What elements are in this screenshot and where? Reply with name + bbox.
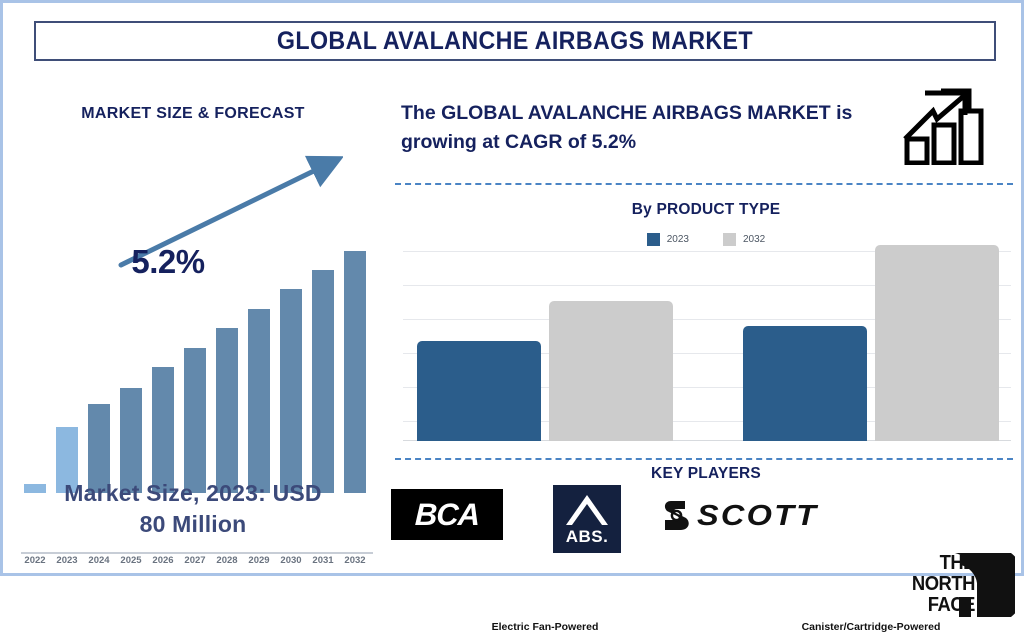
year-label-2030: 2030	[277, 555, 305, 566]
logo-abs: ABS.	[553, 485, 621, 553]
scott-s-mark-icon	[663, 499, 693, 533]
bar-chart-growth-icon	[903, 87, 999, 165]
divider-top	[395, 183, 1013, 185]
bar-2026	[152, 367, 174, 493]
logo-bca-text: BCA	[414, 497, 479, 533]
bar-2028	[216, 328, 238, 493]
page-title: GLOBAL AVALANCHE AIRBAGS MARKET	[277, 27, 753, 56]
product-type-bar-chart: Electric Fan-Powered Canister/Cartridge-…	[403, 251, 1011, 441]
right-panel: The GLOBAL AVALANCHE AIRBAGS MARKET is g…	[391, 73, 1021, 573]
product-bar-canister-2032	[875, 245, 999, 441]
tnf-dome-icon	[955, 553, 1015, 619]
market-size-line-2: 80 Million	[140, 511, 247, 537]
product-bar-electric-2032	[549, 301, 673, 441]
logo-bca: BCA	[391, 489, 503, 540]
market-size-heading: MARKET SIZE & FORECAST	[3, 105, 383, 123]
product-bar-electric-2023	[417, 341, 541, 441]
year-label-2024: 2024	[85, 555, 113, 566]
year-label-2026: 2026	[149, 555, 177, 566]
year-label-2023: 2023	[53, 555, 81, 566]
product-bar-canister-2023	[743, 326, 867, 441]
chart-baseline	[21, 552, 373, 554]
legend-swatch-2023	[647, 233, 660, 246]
abs-chevron-icon	[553, 485, 621, 531]
bar-2032	[344, 251, 366, 493]
key-players-title: KEY PLAYERS	[391, 465, 1021, 483]
bar-2027	[184, 348, 206, 493]
year-label-2025: 2025	[117, 555, 145, 566]
logo-the-north-face: THE NORTH FACE	[879, 553, 1013, 619]
market-size-value: Market Size, 2023: USD 80 Million	[3, 478, 383, 540]
year-label-2028: 2028	[213, 555, 241, 566]
logo-scott: SCOTT	[663, 499, 805, 533]
legend-item-2032: 2032	[723, 233, 765, 246]
key-players-row: BCA ABS. SCOTT THE NORTH FACE	[391, 485, 1021, 557]
bar-2030	[280, 289, 302, 493]
bar-2031	[312, 270, 334, 493]
year-label-2022: 2022	[21, 555, 49, 566]
year-label-2031: 2031	[309, 555, 337, 566]
category-label-electric-fan-powered: Electric Fan-Powered	[413, 621, 677, 633]
market-size-bar-chart: 2022 2023 2024 2025 2026 2027 2028 2029 …	[3, 183, 383, 493]
infographic-page: GLOBAL AVALANCHE AIRBAGS MARKET MARKET S…	[0, 0, 1024, 576]
legend-swatch-2032	[723, 233, 736, 246]
growth-statement: The GLOBAL AVALANCHE AIRBAGS MARKET is g…	[401, 99, 891, 157]
legend-label-2023: 2023	[667, 234, 689, 245]
market-size-panel: MARKET SIZE & FORECAST 5.2%	[3, 73, 383, 573]
legend-item-2023: 2023	[647, 233, 689, 246]
product-type-title: By PRODUCT TYPE	[391, 201, 1021, 219]
market-size-line-1: Market Size, 2023: USD	[64, 480, 322, 506]
divider-bottom	[395, 458, 1013, 460]
year-label-2027: 2027	[181, 555, 209, 566]
logo-abs-text: ABS.	[553, 527, 621, 547]
year-label-2029: 2029	[245, 555, 273, 566]
year-label-2032: 2032	[341, 555, 369, 566]
legend-label-2032: 2032	[743, 234, 765, 245]
bar-2029	[248, 309, 270, 493]
page-title-box: GLOBAL AVALANCHE AIRBAGS MARKET	[34, 21, 996, 61]
category-label-canister-cartridge-powered: Canister/Cartridge-Powered	[739, 621, 1003, 633]
logo-scott-text: SCOTT	[697, 500, 818, 533]
